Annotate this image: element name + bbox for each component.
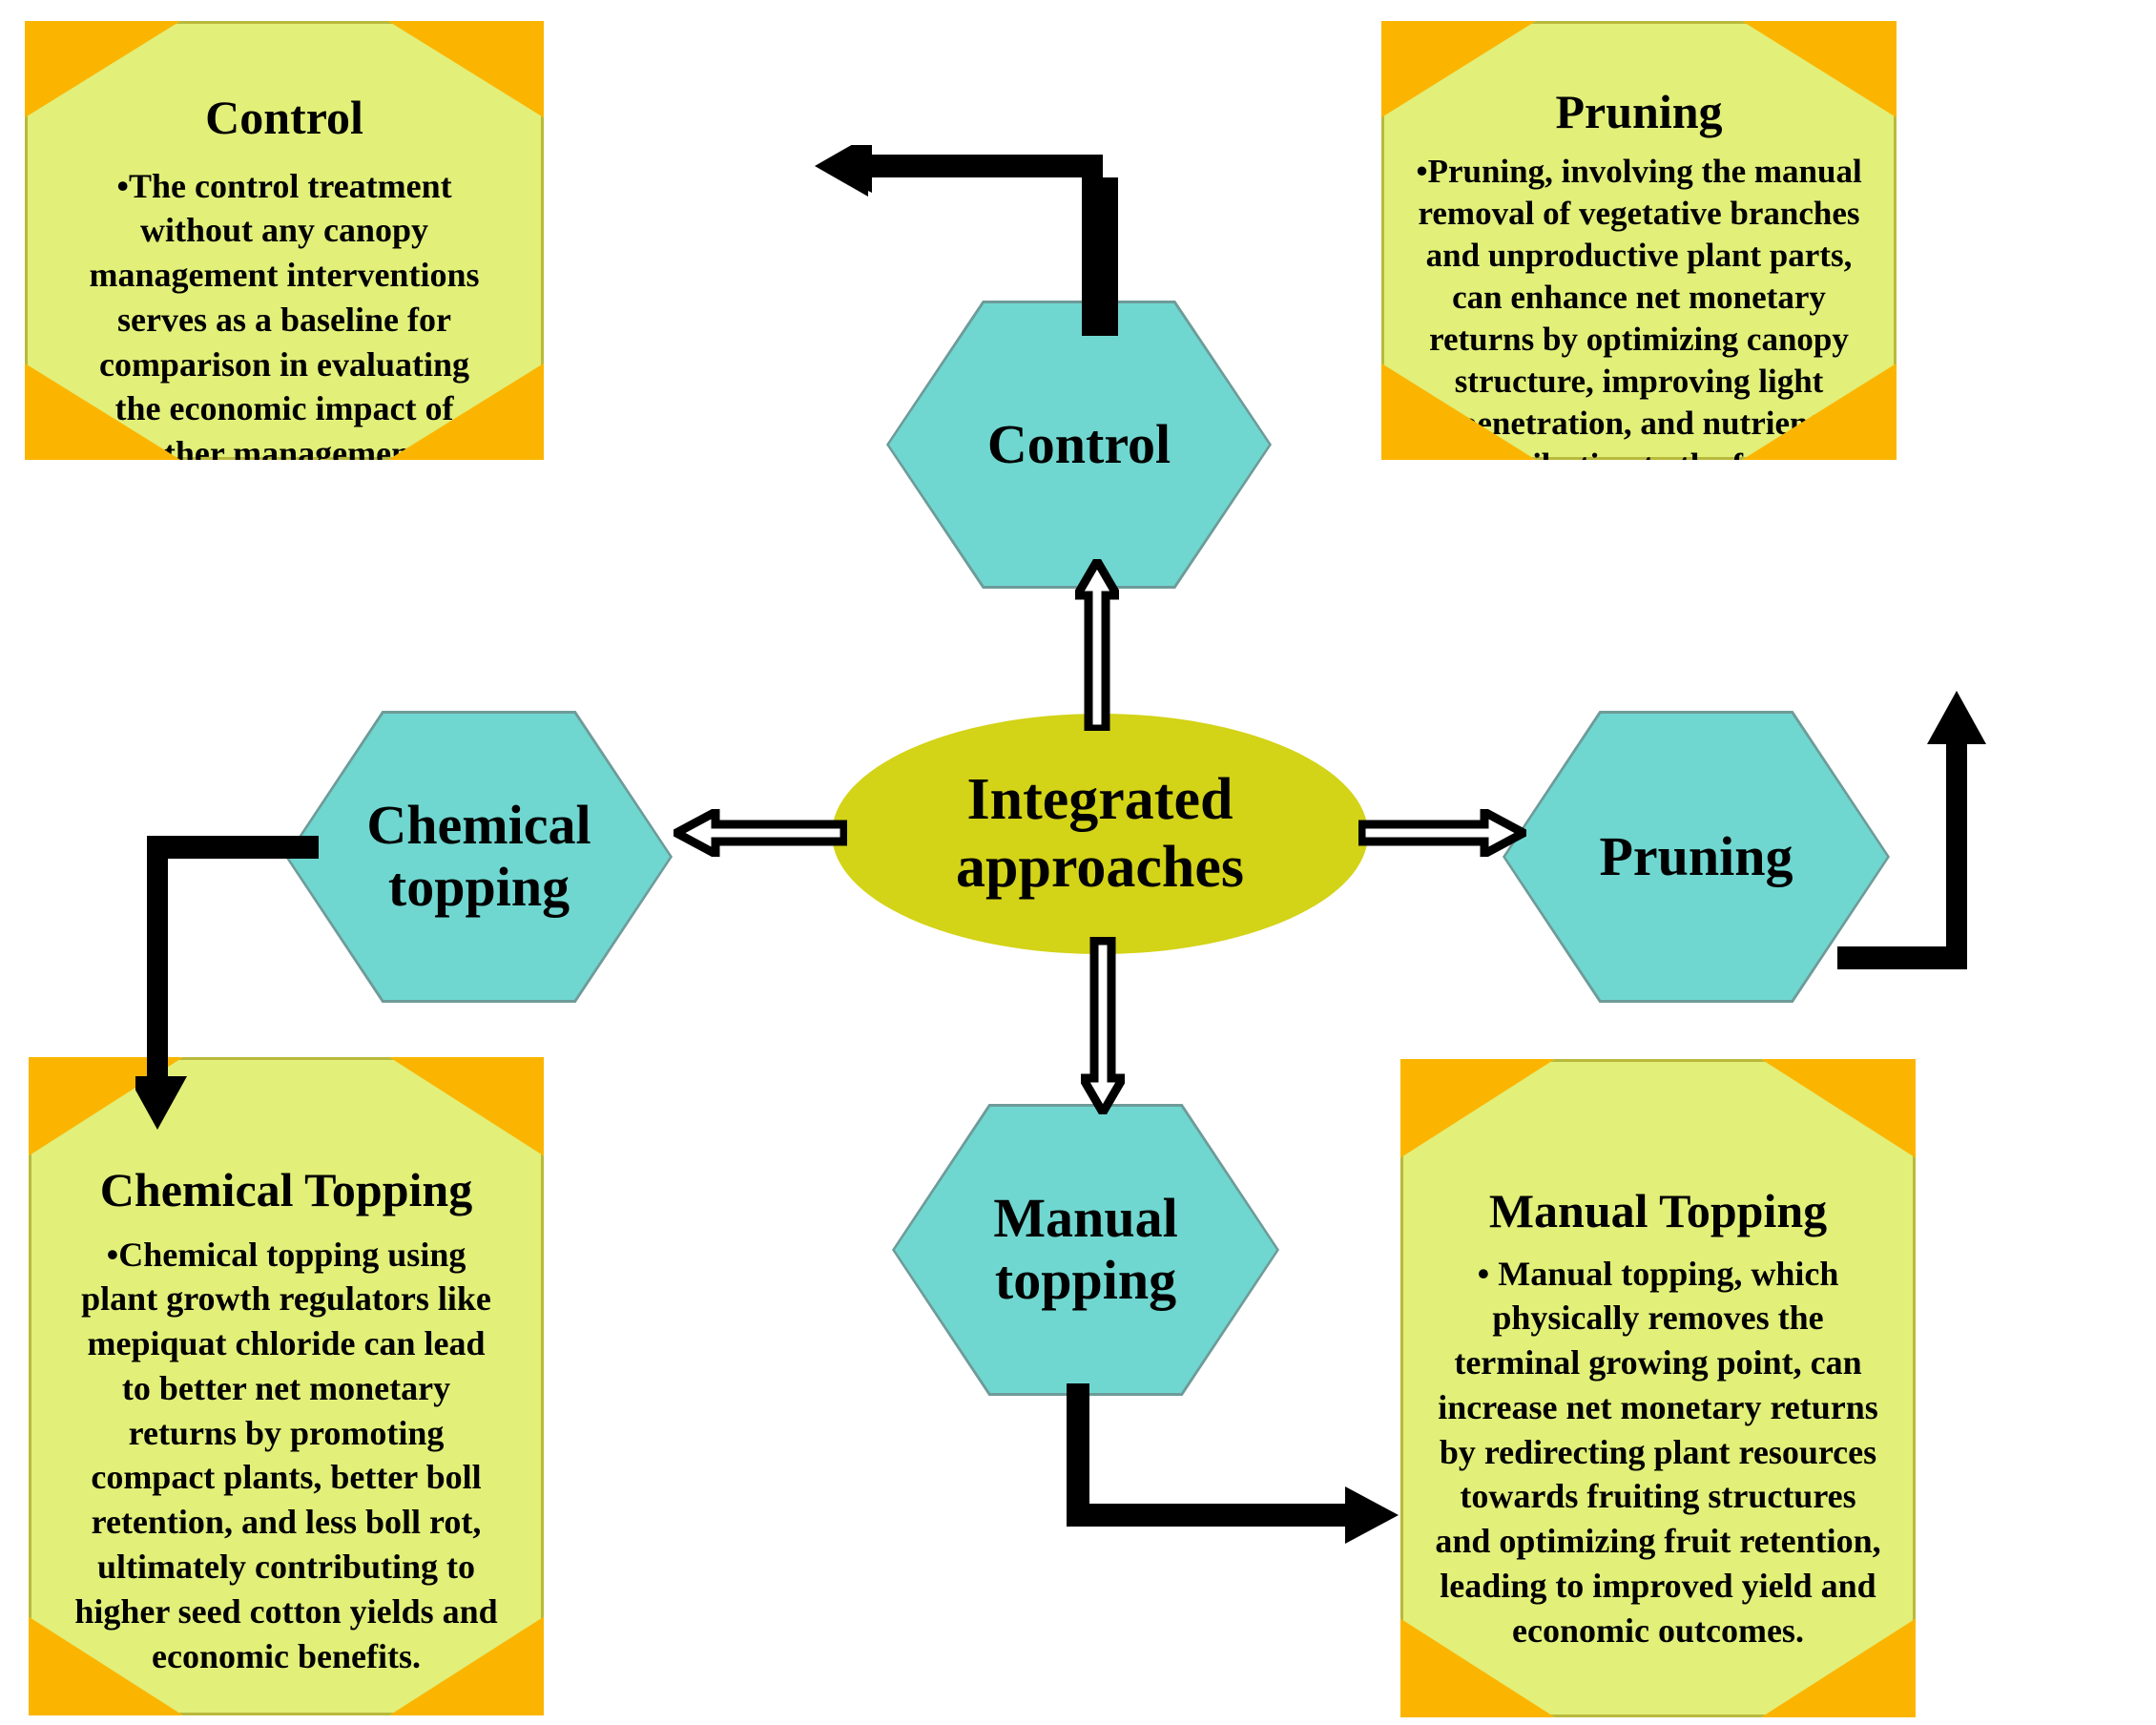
card-control[interactable]: Control •The control treatment without a… bbox=[25, 21, 544, 460]
card-pruning[interactable]: Pruning •Pruning, involving the manual r… bbox=[1381, 21, 1897, 460]
card-manual-topping-body: • Manual topping, which physically remov… bbox=[1403, 1252, 1913, 1653]
card-pruning-title: Pruning bbox=[1555, 87, 1722, 137]
hexagon-control[interactable]: Control bbox=[889, 303, 1269, 586]
hexagon-pruning[interactable]: Pruning bbox=[1505, 714, 1887, 1000]
hexagon-chemical-topping-label: Chemical topping bbox=[288, 795, 670, 919]
arrow-hub-to-control-icon bbox=[1075, 559, 1119, 731]
card-chemical-topping-body: •Chemical topping using plant growth reg… bbox=[31, 1233, 541, 1679]
card-manual-topping[interactable]: Manual Topping • Manual topping, which p… bbox=[1400, 1059, 1916, 1717]
hub-integrated-approaches[interactable]: Integrated approaches bbox=[832, 714, 1368, 954]
arrow-manual-topping-hexagon-to-manual-card-icon bbox=[1067, 1383, 1400, 1574]
arrow-hub-to-chemical-topping-icon bbox=[674, 809, 847, 857]
arrow-pruning-hexagon-to-pruning-card-icon bbox=[1837, 691, 2019, 969]
arrow-control-hexagon-to-control-card-icon bbox=[813, 145, 1118, 336]
arrow-hub-to-pruning-icon bbox=[1358, 809, 1526, 857]
card-chemical-topping-title: Chemical Topping bbox=[100, 1165, 472, 1216]
octagon-shape-control: Control •The control treatment without a… bbox=[25, 21, 544, 460]
hub-label: Integrated approaches bbox=[832, 766, 1368, 903]
hexagon-pruning-label: Pruning bbox=[1591, 826, 1800, 888]
hexagon-control-label: Control bbox=[980, 414, 1178, 476]
card-chemical-topping[interactable]: Chemical Topping •Chemical topping using… bbox=[29, 1057, 544, 1715]
octagon-shape-pruning: Pruning •Pruning, involving the manual r… bbox=[1381, 21, 1897, 460]
card-pruning-body: •Pruning, involving the manual removal o… bbox=[1384, 151, 1894, 530]
card-control-body: •The control treatment without any canop… bbox=[28, 164, 541, 566]
octagon-shape-manual-topping: Manual Topping • Manual topping, which p… bbox=[1400, 1059, 1916, 1717]
diagram-canvas: Control •The control treatment without a… bbox=[0, 0, 2156, 1725]
card-manual-topping-title: Manual Topping bbox=[1489, 1186, 1827, 1237]
arrow-hub-to-manual-topping-icon bbox=[1081, 937, 1125, 1114]
hexagon-manual-topping[interactable]: Manual topping bbox=[895, 1107, 1276, 1393]
card-control-title: Control bbox=[205, 93, 363, 143]
octagon-shape-chemical-topping: Chemical Topping •Chemical topping using… bbox=[29, 1057, 544, 1715]
arrow-chemical-topping-hexagon-to-chemical-card-icon bbox=[135, 836, 326, 1133]
hexagon-manual-topping-label: Manual topping bbox=[895, 1188, 1276, 1312]
hexagon-chemical-topping[interactable]: Chemical topping bbox=[288, 714, 670, 1000]
